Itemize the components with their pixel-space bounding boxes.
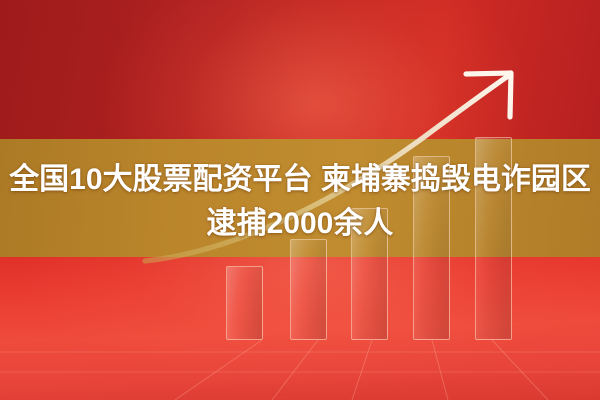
page-title: 全国10大股票配资平台 柬埔寨捣毁电诈园区逮捕2000余人 — [0, 158, 600, 246]
background-band-bottom-red — [0, 257, 600, 400]
background-band-top-red — [0, 0, 600, 140]
poster-canvas: 全国10大股票配资平台 柬埔寨捣毁电诈园区逮捕2000余人 — [0, 0, 600, 400]
